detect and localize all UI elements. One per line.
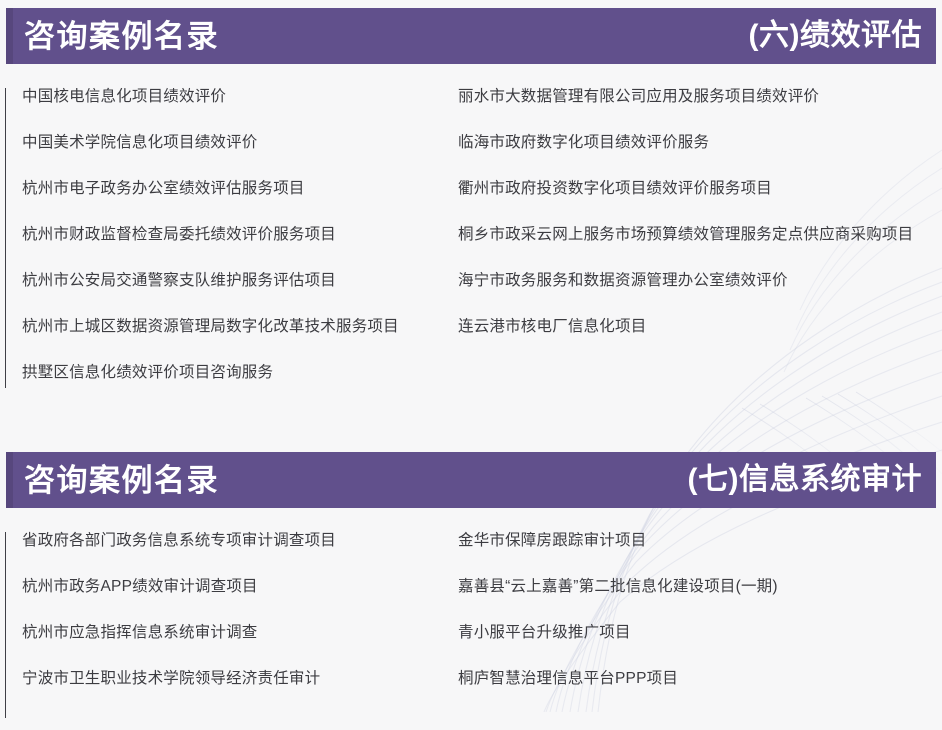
section-header-bar: 咨询案例名录 (七)信息系统审计 [6, 452, 936, 508]
list-item: 杭州市应急指挥信息系统审计调查 [22, 622, 458, 668]
section-content: 中国核电信息化项目绩效评价 中国美术学院信息化项目绩效评价 杭州市电子政务办公室… [0, 86, 942, 396]
slide-page: 咨询案例名录 (六)绩效评估 中国核电信息化项目绩效评价 中国美术学院信息化项目… [0, 0, 942, 712]
list-item: 杭州市电子政务办公室绩效评估服务项目 [22, 178, 458, 224]
section-information-system-audit: 咨询案例名录 (七)信息系统审计 省政府各部门政务信息系统专项审计调查项目 杭州… [0, 444, 942, 730]
list-item: 青小服平台升级推广项目 [458, 622, 938, 668]
section-header-bar: 咨询案例名录 (六)绩效评估 [6, 8, 936, 64]
section-subtitle: (六)绩效评估 [749, 21, 922, 51]
case-list-left: 中国核电信息化项目绩效评价 中国美术学院信息化项目绩效评价 杭州市电子政务办公室… [22, 86, 458, 408]
list-item: 中国美术学院信息化项目绩效评价 [22, 132, 458, 178]
list-item: 丽水市大数据管理有限公司应用及服务项目绩效评价 [458, 86, 938, 132]
list-item: 连云港市核电厂信息化项目 [458, 316, 938, 362]
case-columns: 省政府各部门政务信息系统专项审计调查项目 杭州市政务APP绩效审计调查项目 杭州… [0, 530, 942, 714]
case-columns: 中国核电信息化项目绩效评价 中国美术学院信息化项目绩效评价 杭州市电子政务办公室… [0, 86, 942, 408]
list-item: 宁波市卫生职业技术学院领导经济责任审计 [22, 668, 458, 714]
list-item: 金华市保障房跟踪审计项目 [458, 530, 938, 576]
list-item: 杭州市政务APP绩效审计调查项目 [22, 576, 458, 622]
section-content: 省政府各部门政务信息系统专项审计调查项目 杭州市政务APP绩效审计调查项目 杭州… [0, 530, 942, 730]
list-item: 海宁市政务服务和数据资源管理办公室绩效评价 [458, 270, 938, 316]
list-item: 桐庐智慧治理信息平台PPP项目 [458, 668, 938, 714]
list-item: 杭州市公安局交通警察支队维护服务评估项目 [22, 270, 458, 316]
list-item: 拱墅区信息化绩效评价项目咨询服务 [22, 362, 458, 408]
case-list-right: 金华市保障房跟踪审计项目 嘉善县“云上嘉善”第二批信息化建设项目(一期) 青小服… [458, 530, 938, 714]
list-item: 桐乡市政采云网上服务市场预算绩效管理服务定点供应商采购项目 [458, 224, 938, 270]
case-list-right: 丽水市大数据管理有限公司应用及服务项目绩效评价 临海市政府数字化项目绩效评价服务… [458, 86, 938, 408]
list-item: 临海市政府数字化项目绩效评价服务 [458, 132, 938, 178]
page-title: 咨询案例名录 [24, 465, 219, 496]
list-item: 嘉善县“云上嘉善”第二批信息化建设项目(一期) [458, 576, 938, 622]
list-item: 中国核电信息化项目绩效评价 [22, 86, 458, 132]
case-list-left: 省政府各部门政务信息系统专项审计调查项目 杭州市政务APP绩效审计调查项目 杭州… [22, 530, 458, 714]
list-item: 杭州市财政监督检查局委托绩效评价服务项目 [22, 224, 458, 270]
list-item: 省政府各部门政务信息系统专项审计调查项目 [22, 530, 458, 576]
list-item: 衢州市政府投资数字化项目绩效评价服务项目 [458, 178, 938, 224]
section-subtitle: (七)信息系统审计 [688, 465, 922, 495]
page-title: 咨询案例名录 [24, 21, 219, 52]
section-performance-evaluation: 咨询案例名录 (六)绩效评估 中国核电信息化项目绩效评价 中国美术学院信息化项目… [0, 0, 942, 396]
list-item: 杭州市上城区数据资源管理局数字化改革技术服务项目 [22, 316, 458, 362]
